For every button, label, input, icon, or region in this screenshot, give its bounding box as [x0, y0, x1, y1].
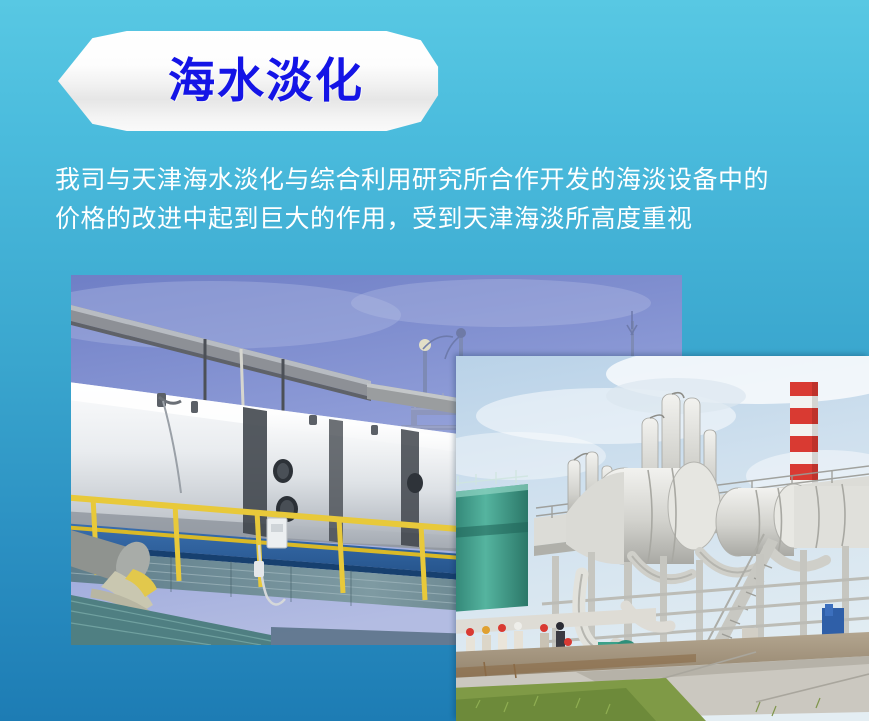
description-paragraph: 我司与天津海水淡化与综合利用研究所合作开发的海淡设备中的 价格的改进中起到巨大的…	[55, 160, 869, 238]
description-line-2: 价格的改进中起到巨大的作用，受到天津海淡所高度重视	[55, 199, 869, 238]
desalination-plant-photo	[456, 356, 869, 721]
slide-root: 海水淡化 我司与天津海水淡化与综合利用研究所合作开发的海淡设备中的 价格的改进中…	[0, 0, 869, 721]
chimney	[790, 382, 818, 488]
description-line-1: 我司与天津海水淡化与综合利用研究所合作开发的海淡设备中的	[55, 160, 869, 199]
title-badge: 海水淡化	[58, 30, 440, 132]
storage-tank	[456, 470, 528, 612]
desalination-plant-image	[456, 356, 869, 721]
page-title: 海水淡化	[58, 30, 440, 132]
